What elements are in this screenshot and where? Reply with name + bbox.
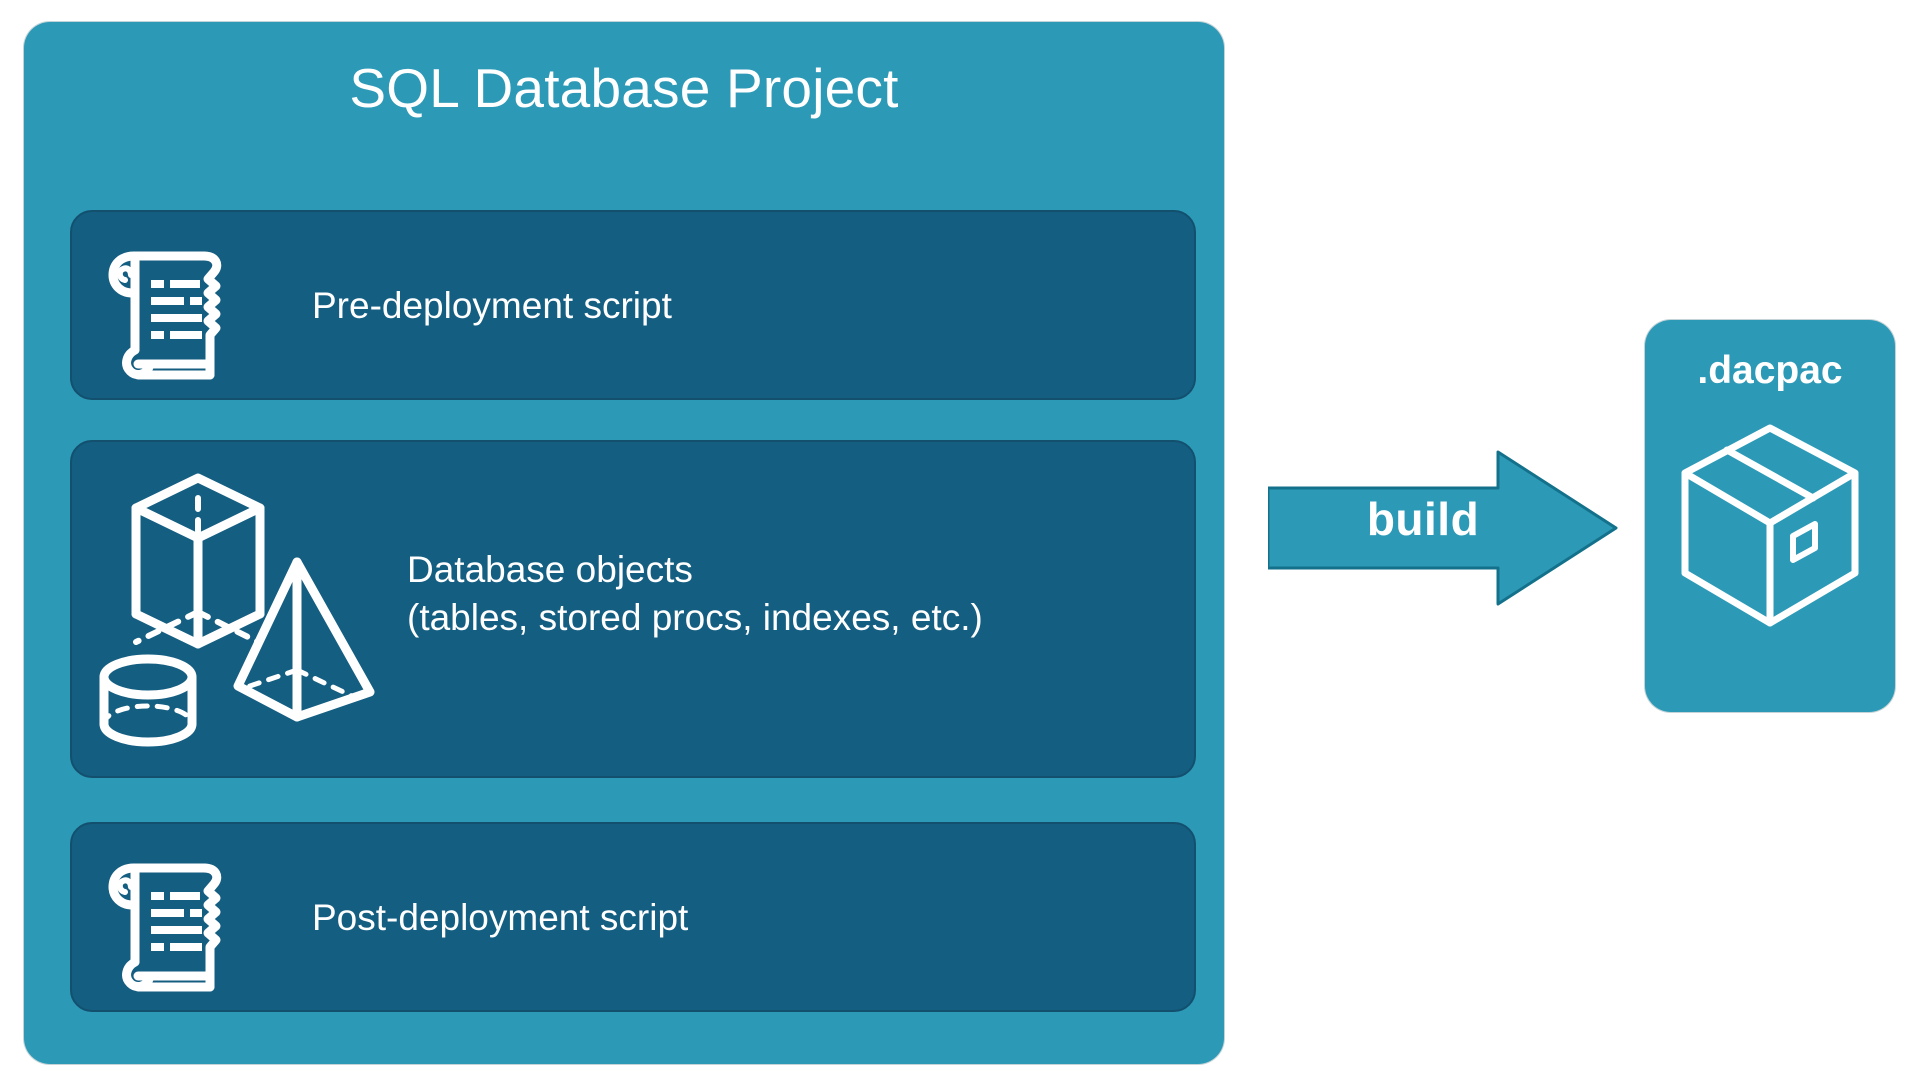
card-database-objects[interactable]: Database objects (tables, stored procs, … [70,440,1196,778]
dacpac-title: .dacpac [1645,348,1895,394]
page-title: SQL Database Project [24,56,1224,120]
package-box-icon [1675,418,1865,638]
card-post-deployment-script[interactable]: Post-deployment script [70,822,1196,1012]
card-pre-deployment-label: Pre-deployment script [312,282,672,330]
scroll-icon [104,846,230,997]
build-label: build [1318,490,1528,548]
card-database-objects-label: Database objects (tables, stored procs, … [407,546,983,642]
database-objects-icon-group [92,462,392,757]
diagram-canvas: SQL Database Project [0,0,1920,1080]
scroll-icon [104,234,230,385]
sql-database-project-panel: SQL Database Project [24,22,1224,1064]
dacpac-output-panel: .dacpac [1645,320,1895,712]
cube-icon [136,478,260,644]
card-pre-deployment-script[interactable]: Pre-deployment script [70,210,1196,400]
card-post-deployment-label: Post-deployment script [312,894,688,942]
cylinder-icon [104,659,192,742]
